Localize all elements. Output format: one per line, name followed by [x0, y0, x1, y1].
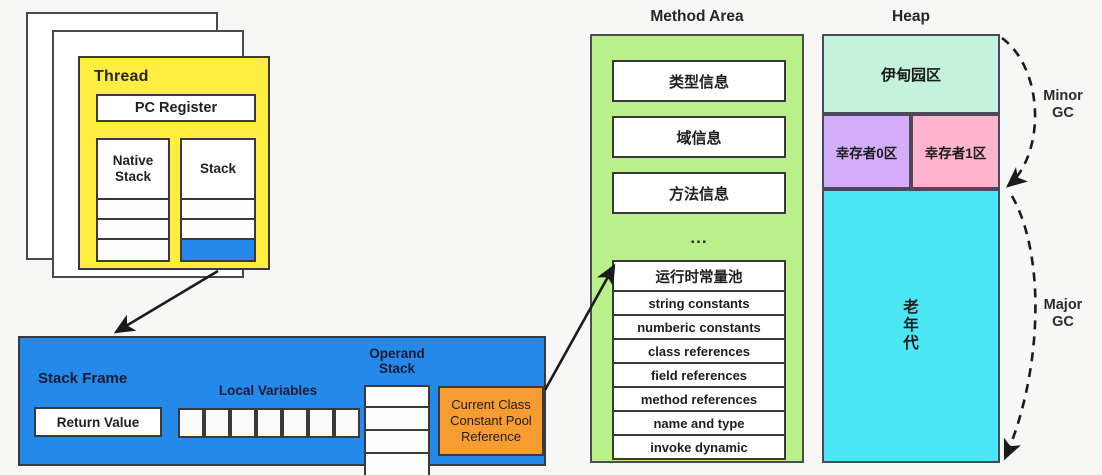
- native-stack-label: NativeStack: [113, 153, 154, 184]
- operand-stack-cell: [364, 408, 430, 431]
- local-variable-cell: [204, 408, 230, 438]
- pool-item-invoke-dynamic: invoke dynamic: [612, 436, 786, 460]
- native-stack-box: NativeStack: [96, 138, 170, 200]
- arrow-stack-to-stack-frame: [116, 271, 218, 332]
- operand-stack-cell: [364, 454, 430, 475]
- ccpr-line2: Constant Pool: [450, 413, 532, 429]
- heap-old-generation-region: 老 年 代: [822, 189, 1000, 463]
- jvm-memory-diagram: Thread PC Register NativeStack Stack Sta…: [0, 0, 1102, 475]
- method-area-item-method-info: 方法信息: [612, 172, 786, 214]
- local-variable-cell: [256, 408, 282, 438]
- old-gen-char-0: 老: [903, 299, 919, 317]
- operand-stack-cell: [364, 385, 430, 408]
- pool-item-field-references: field references: [612, 364, 786, 388]
- local-variables-label: Local Variables: [173, 383, 363, 398]
- local-variable-cell: [308, 408, 334, 438]
- minor-gc-line2: GC: [1028, 105, 1098, 122]
- minor-gc-label: Minor GC: [1028, 88, 1098, 121]
- stack-frame-title: Stack Frame: [38, 370, 127, 387]
- native-stack-slot-1: [96, 220, 170, 240]
- pool-item-method-references: method references: [612, 388, 786, 412]
- current-class-constant-pool-reference-box: Current Class Constant Pool Reference: [438, 386, 544, 456]
- stack-slot-active: [180, 240, 256, 262]
- pool-item-numberic-constants: numberic constants: [612, 316, 786, 340]
- operand-stack-line1: Operand: [369, 346, 425, 361]
- heap-survivor1-region: 幸存者1区: [911, 114, 1000, 189]
- heap-survivor0-region: 幸存者0区: [822, 114, 911, 189]
- operand-stack-line2: Stack: [379, 361, 415, 376]
- major-gc-line1: Major: [1028, 297, 1098, 314]
- local-variable-cell: [178, 408, 204, 438]
- ccpr-line1: Current Class: [450, 397, 532, 413]
- thread-card: Thread PC Register NativeStack Stack: [78, 56, 270, 270]
- old-gen-char-1: 年: [903, 317, 919, 335]
- native-stack-slot-0: [96, 200, 170, 220]
- local-variable-cell: [334, 408, 360, 438]
- method-area-panel: 类型信息 域信息 方法信息 ... 运行时常量池 string constant…: [590, 34, 804, 463]
- old-gen-char-2: 代: [903, 335, 919, 353]
- method-area-ellipsis: ...: [612, 228, 786, 248]
- operand-stack-label: Operand Stack: [358, 346, 436, 376]
- heap-title: Heap: [822, 8, 1000, 26]
- heap-eden-region: 伊甸园区: [822, 34, 1000, 114]
- minor-gc-line1: Minor: [1028, 88, 1098, 105]
- pool-item-class-references: class references: [612, 340, 786, 364]
- local-variable-cell: [282, 408, 308, 438]
- local-variable-cell: [230, 408, 256, 438]
- stack-frame-panel: Stack Frame Return Value Local Variables…: [18, 336, 546, 466]
- stack-slot-0: [180, 200, 256, 220]
- pc-register-box: PC Register: [96, 94, 256, 122]
- pool-item-string-constants: string constants: [612, 292, 786, 316]
- method-area-item-field-info: 域信息: [612, 116, 786, 158]
- major-gc-label: Major GC: [1028, 297, 1098, 330]
- ccpr-line3: Reference: [450, 429, 532, 445]
- native-stack-slot-2: [96, 240, 170, 262]
- thread-title: Thread: [94, 68, 149, 86]
- stack-slot-1: [180, 220, 256, 240]
- return-value-box: Return Value: [34, 407, 162, 437]
- stack-box: Stack: [180, 138, 256, 200]
- method-area-title: Method Area: [590, 8, 804, 26]
- runtime-constant-pool-header: 运行时常量池: [612, 260, 786, 292]
- major-gc-line2: GC: [1028, 314, 1098, 331]
- pool-item-name-and-type: name and type: [612, 412, 786, 436]
- method-area-item-type-info: 类型信息: [612, 60, 786, 102]
- operand-stack-cell: [364, 431, 430, 454]
